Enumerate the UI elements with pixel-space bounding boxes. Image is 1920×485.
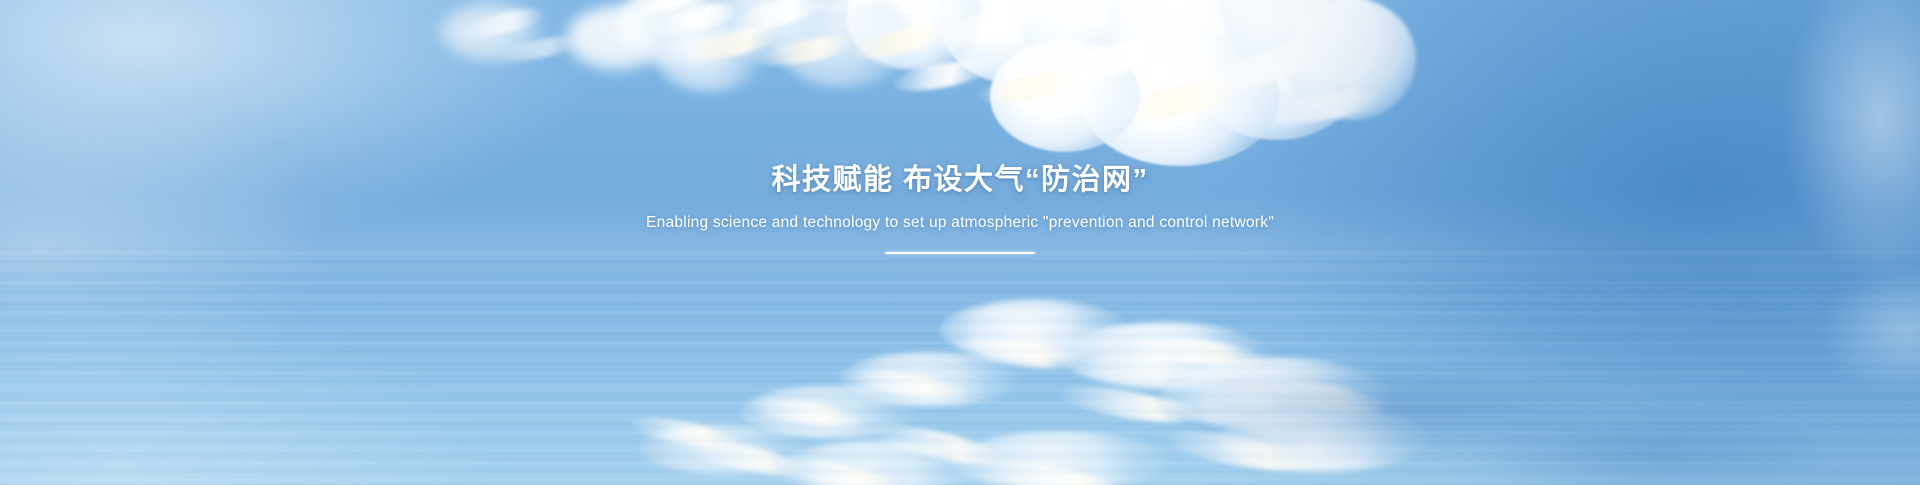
hero-banner: 科技赋能 布设大气“防治网” Enabling science and tech… <box>0 0 1920 485</box>
wispy-cloud-right <box>0 0 1920 485</box>
